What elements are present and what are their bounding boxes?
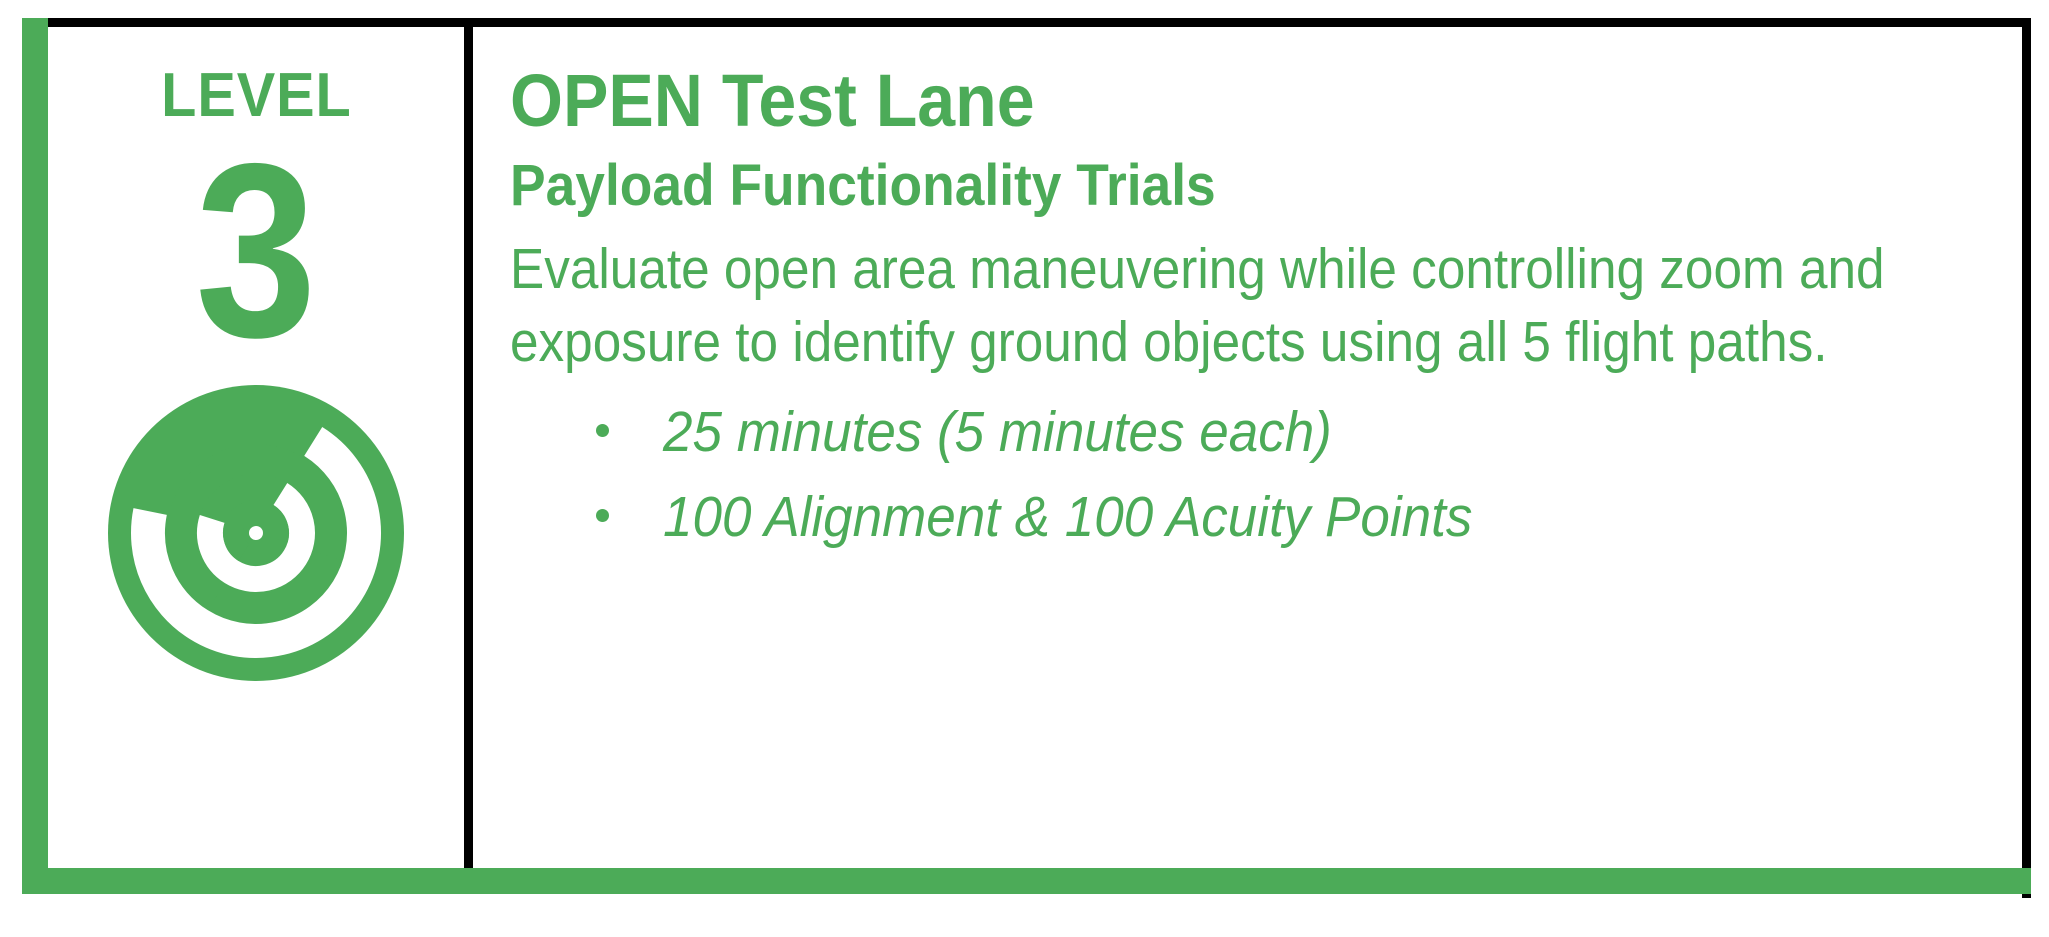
list-item-label: 100 Alignment & 100 Acuity Points [663, 486, 1472, 549]
list-item: 100 Alignment & 100 Acuity Points [596, 486, 2020, 549]
list-item: 25 minutes (5 minutes each) [596, 401, 2020, 464]
list-item-label: 25 minutes (5 minutes each) [663, 401, 1332, 464]
description-text: Evaluate open area maneuvering while con… [510, 233, 1914, 379]
requirements-list: 25 minutes (5 minutes each) 100 Alignmen… [510, 401, 2020, 548]
card-green-left-accent [22, 18, 48, 894]
level-card: LEVEL 3 OPEN Test Lane Payload Functiona… [0, 0, 2049, 937]
content-column: OPEN Test Lane Payload Functionality Tri… [510, 27, 2020, 868]
bullet-dot-icon [596, 509, 609, 522]
level-number: 3 [195, 133, 316, 369]
target-spiral-icon [106, 383, 406, 683]
column-divider [464, 18, 473, 868]
level-column: LEVEL 3 [48, 27, 464, 868]
page-title: OPEN Test Lane [510, 63, 1899, 138]
page-subtitle: Payload Functionality Trials [510, 156, 1899, 217]
bullet-dot-icon [596, 424, 609, 437]
card-green-bottom-accent [22, 868, 2031, 894]
